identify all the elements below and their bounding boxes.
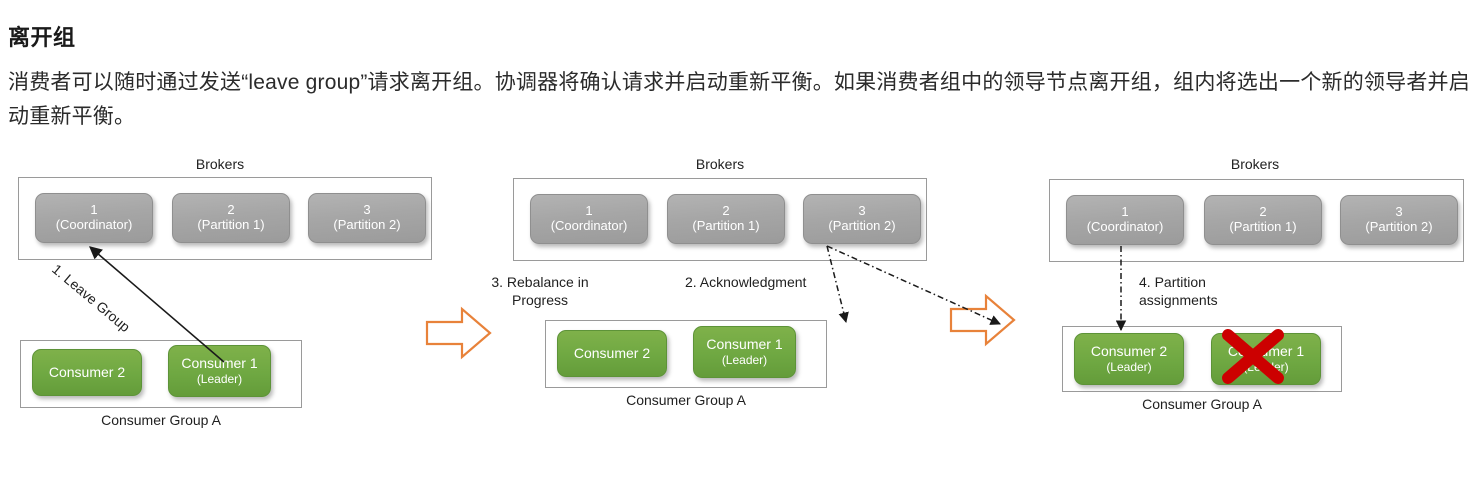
- broker-node-3-3[interactable]: 3 (Partition 2): [1340, 195, 1458, 245]
- consumer-name: Consumer 2: [49, 364, 125, 381]
- consumer-name: Consumer 1: [181, 355, 257, 372]
- diagram-panel-1: Brokers 1 (Coordinator) 2 (Partition 1) …: [0, 150, 440, 440]
- consumer-name: Consumer 1: [706, 336, 782, 353]
- broker-id: 3: [1395, 205, 1402, 220]
- brokers-label-2: Brokers: [495, 156, 945, 172]
- page-title: 离开组: [8, 20, 76, 52]
- consumer-name: Consumer 1: [1228, 343, 1304, 360]
- broker-node-1-1[interactable]: 1 (Coordinator): [35, 193, 153, 243]
- consumer-node-3-1[interactable]: Consumer 1 (Leader): [1211, 333, 1321, 385]
- broker-id: 2: [722, 204, 729, 219]
- flow-label-acknowledgment: 2. Acknowledgment: [685, 273, 806, 291]
- consumer-group-caption-2: Consumer Group A: [545, 392, 827, 408]
- consumer-node-2-1[interactable]: Consumer 1 (Leader): [693, 326, 796, 378]
- consumer-node-2-2[interactable]: Consumer 2: [557, 330, 667, 377]
- consumer-role: (Leader): [1106, 360, 1151, 374]
- consumer-node-1-2[interactable]: Consumer 2: [32, 349, 142, 396]
- broker-id: 3: [363, 203, 370, 218]
- broker-node-1-2[interactable]: 2 (Partition 1): [172, 193, 290, 243]
- consumer-node-3-2[interactable]: Consumer 2 (Leader): [1074, 333, 1184, 385]
- flow-label-rebalance-in-progress: 3. Rebalance in Progress: [480, 273, 600, 309]
- consumer-role: (Leader): [197, 372, 242, 386]
- broker-node-2-1[interactable]: 1 (Coordinator): [530, 194, 648, 244]
- broker-id: 3: [858, 204, 865, 219]
- broker-node-2-2[interactable]: 2 (Partition 1): [667, 194, 785, 244]
- flow-label-partition-assignments: 4. Partition assignments: [1139, 273, 1218, 309]
- broker-node-3-1[interactable]: 1 (Coordinator): [1066, 195, 1184, 245]
- step-arrow-2: [948, 292, 1018, 348]
- consumer-name: Consumer 2: [1091, 343, 1167, 360]
- broker-node-2-3[interactable]: 3 (Partition 2): [803, 194, 921, 244]
- step-arrow-1: [424, 305, 494, 361]
- broker-role: (Partition 1): [692, 219, 759, 234]
- broker-id: 1: [585, 204, 592, 219]
- broker-role: (Partition 2): [333, 218, 400, 233]
- consumer-group-caption-1: Consumer Group A: [20, 412, 302, 428]
- brokers-label-1: Brokers: [0, 156, 440, 172]
- article-paragraph: 消费者可以随时通过发送“leave group”请求离开组。协调器将确认请求并启…: [8, 66, 1474, 134]
- broker-node-1-3[interactable]: 3 (Partition 2): [308, 193, 426, 243]
- broker-node-3-2[interactable]: 2 (Partition 1): [1204, 195, 1322, 245]
- broker-role: (Partition 1): [1229, 220, 1296, 235]
- broker-id: 1: [1121, 205, 1128, 220]
- flow-label-leave-group: 1. Leave Group: [48, 260, 134, 336]
- leave-group-diagram: Brokers 1 (Coordinator) 2 (Partition 1) …: [0, 150, 1479, 440]
- consumer-name: Consumer 2: [574, 345, 650, 362]
- consumer-node-1-1[interactable]: Consumer 1 (Leader): [168, 345, 271, 397]
- consumer-group-caption-3: Consumer Group A: [1062, 396, 1342, 412]
- broker-id: 1: [90, 203, 97, 218]
- broker-role: (Partition 2): [1365, 220, 1432, 235]
- broker-id: 2: [1259, 205, 1266, 220]
- broker-role: (Coordinator): [56, 218, 133, 233]
- brokers-label-3: Brokers: [1031, 156, 1479, 172]
- diagram-panel-2: Brokers 1 (Coordinator) 2 (Partition 1) …: [495, 150, 945, 440]
- broker-role: (Partition 2): [828, 219, 895, 234]
- diagram-panel-3: Brokers 1 (Coordinator) 2 (Partition 1) …: [1031, 150, 1479, 440]
- broker-role: (Coordinator): [1087, 220, 1164, 235]
- consumer-role: (Leader): [1243, 360, 1288, 374]
- broker-id: 2: [227, 203, 234, 218]
- consumer-role: (Leader): [722, 353, 767, 367]
- broker-role: (Partition 1): [197, 218, 264, 233]
- broker-role: (Coordinator): [551, 219, 628, 234]
